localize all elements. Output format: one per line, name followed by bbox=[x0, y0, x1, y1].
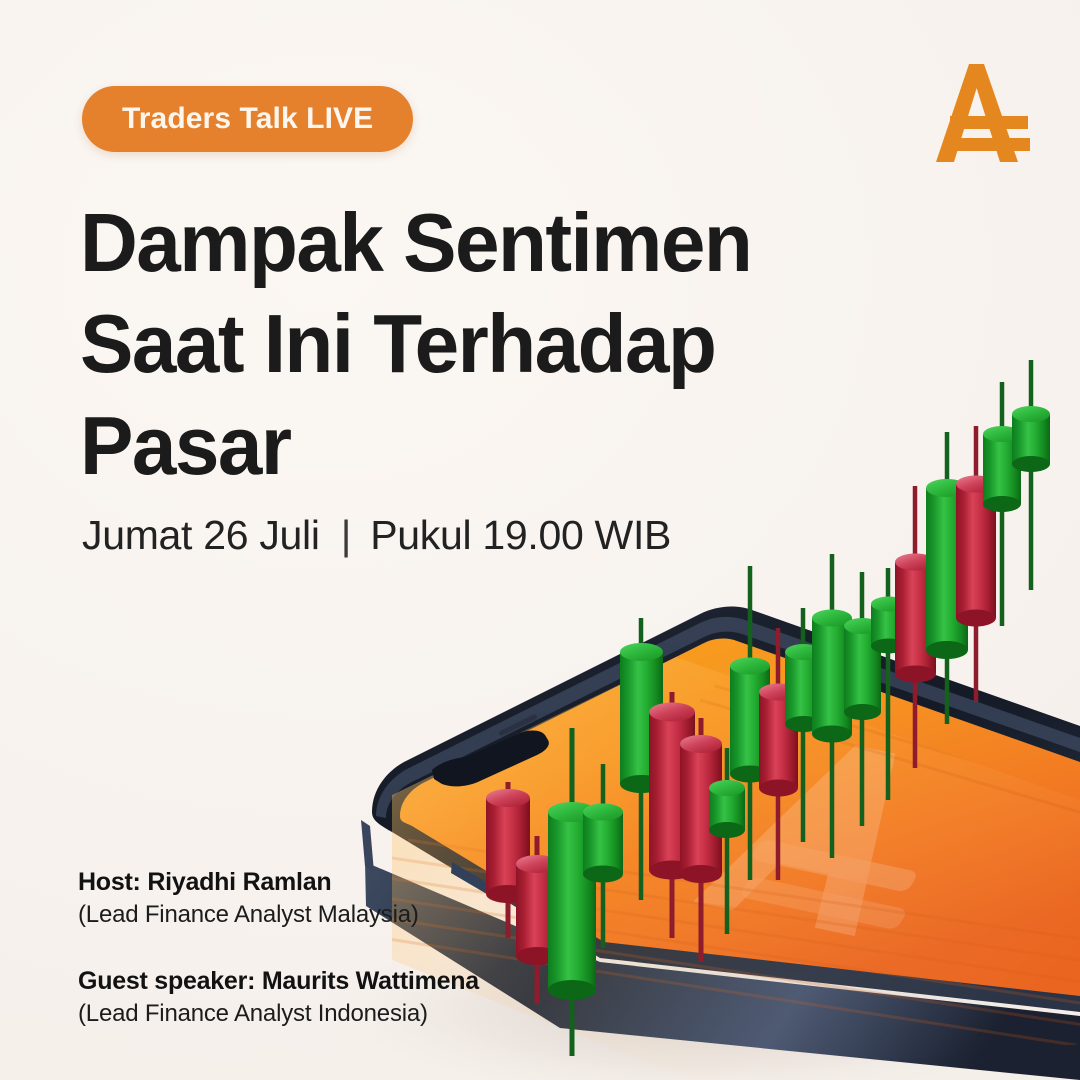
host-name: Host: Riyadhi Ramlan bbox=[78, 866, 479, 898]
schedule-date: Jumat 26 Juli bbox=[82, 512, 320, 558]
page-title-line-2: Saat Ini Terhadap bbox=[80, 293, 813, 394]
guest-role: (Lead Finance Analyst Indonesia) bbox=[78, 997, 479, 1032]
credits-block: Host: Riyadhi Ramlan (Lead Finance Analy… bbox=[78, 866, 479, 1032]
page-title-line-1: Dampak Sentimen bbox=[80, 192, 813, 293]
host-role: (Lead Finance Analyst Malaysia) bbox=[78, 898, 479, 933]
poster-canvas: Traders Talk LIVE Dampak Sentimen Saat I… bbox=[0, 0, 1080, 1080]
host-credit: Host: Riyadhi Ramlan (Lead Finance Analy… bbox=[78, 866, 479, 933]
guest-credit: Guest speaker: Maurits Wattimena (Lead F… bbox=[78, 965, 479, 1032]
page-title-line-3: Pasar bbox=[80, 395, 813, 496]
schedule-line: Jumat 26 Juli | Pukul 19.00 WIB bbox=[82, 512, 671, 559]
live-badge: Traders Talk LIVE bbox=[82, 86, 413, 152]
live-badge-label: Traders Talk LIVE bbox=[122, 102, 373, 136]
page-title: Dampak Sentimen Saat Ini Terhadap Pasar bbox=[80, 192, 813, 496]
schedule-time: Pukul 19.00 WIB bbox=[370, 512, 671, 558]
guest-name: Guest speaker: Maurits Wattimena bbox=[78, 965, 479, 997]
schedule-separator: | bbox=[341, 512, 351, 559]
ascendex-a-logo-icon bbox=[928, 58, 1032, 168]
